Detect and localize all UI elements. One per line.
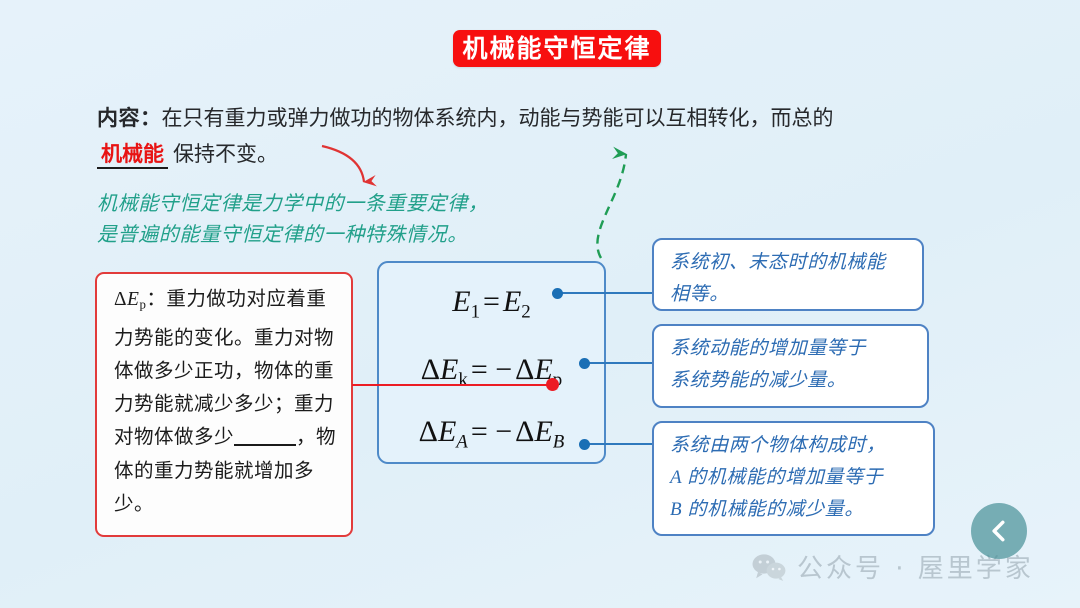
formula-1-lhs-var: E [452,285,470,318]
wechat-icon [752,553,786,581]
red-connector-line [352,384,550,386]
formula-1-rhs-sub: 2 [521,302,530,323]
red-connector-dot [546,378,559,391]
formula-3-delta-2: Δ [515,415,534,448]
connector-dot-2 [579,358,590,369]
fill-in-blank [234,444,296,446]
content-highlight-term: 机械能 [97,142,168,169]
teal-note-line-1: 机械能守恒定律是力学中的一条重要定律， [97,189,617,220]
formula-2-operator: = − [468,353,515,386]
explanation-box-3: 系统由两个物体构成时， A 的机械能的增加量等于 B 的机械能的减少量。 [652,421,935,536]
formula-3-operator: = − [468,415,515,448]
formula-2-delta-2: Δ [515,353,534,386]
formula-row-3: ΔEA= −ΔEB [379,415,604,454]
explanation-box-1: 系统初、末态时的机械能 相等。 [652,238,924,311]
delta-ep-explanation-text: ΔEp：重力做功对应着重力势能的变化。重力对物体做多少正功，物体的重力势能就减少… [114,283,338,521]
formula-2-lhs-sub: k [458,370,467,391]
connector-dot-3 [579,439,590,450]
formula-1-lhs-sub: 1 [471,302,480,323]
energy-symbol: E [127,289,139,310]
formula-2-lhs-var: E [440,353,458,386]
explanation-box-3-line-2: A 的机械能的增加量等于 [670,462,921,494]
explanation-box-1-line-2: 相等。 [670,279,910,311]
formula-2-delta: Δ [421,353,440,386]
formula-1-operator: = [480,285,503,318]
explanation-box-3-line-3: B 的机械能的减少量。 [670,494,921,526]
explanation-box-1-line-1: 系统初、末态时的机械能 [670,247,910,279]
connector-dot-1 [552,288,563,299]
chevron-left-icon [986,518,1012,544]
slide-canvas: 机械能守恒定律 内容：在只有重力或弹力做功的物体系统内，动能与势能可以互相转化，… [0,0,1080,608]
explanation-box-2-line-1: 系统动能的增加量等于 [670,333,915,365]
content-paragraph: 内容：在只有重力或弹力做功的物体系统内，动能与势能可以互相转化，而总的 机械能保… [97,100,917,172]
delta-ep-explanation-box: ΔEp：重力做功对应着重力势能的变化。重力对物体做多少正功，物体的重力势能就减少… [95,272,353,537]
explanation-box-2-line-2: 系统势能的减少量。 [670,365,915,397]
page-title: 机械能守恒定律 [462,36,651,61]
content-line-1: 内容：在只有重力或弹力做功的物体系统内，动能与势能可以互相转化，而总的 [97,100,917,136]
content-line-2: 机械能保持不变。 [97,136,917,172]
teal-note-line-2: 是普遍的能量守恒定律的一种特殊情况。 [97,220,617,251]
explanation-box-3-line-1: 系统由两个物体构成时， [670,430,921,462]
delta-symbol: Δ [114,289,127,310]
formula-row-1: E1=E2 [379,285,604,324]
back-button[interactable] [971,503,1027,559]
formula-3-lhs-var: E [438,415,456,448]
teal-note: 机械能守恒定律是力学中的一条重要定律， 是普遍的能量守恒定律的一种特殊情况。 [97,189,617,251]
content-label: 内容： [97,106,162,130]
formula-3-rhs-var: E [534,415,552,448]
connector-line-3 [588,443,654,445]
explanation-box-2: 系统动能的增加量等于 系统势能的减少量。 [652,324,929,408]
connector-line-2 [588,362,654,364]
formula-3-rhs-sub: B [553,432,565,453]
content-line-2-text: 保持不变。 [173,142,278,166]
formula-3-lhs-sub: A [456,432,468,453]
page-title-badge: 机械能守恒定律 [453,30,661,67]
delta-ep-text-part1: ：重力做功对应着重力势能的变化。重力对物体做多少正功，物体的重力势能就减少多少；… [114,289,334,448]
formula-1-rhs-var: E [503,285,521,318]
connector-line-1 [561,292,654,294]
formula-3-delta: Δ [419,415,438,448]
content-line-1-text: 在只有重力或弹力做功的物体系统内，动能与势能可以互相转化，而总的 [162,106,834,130]
